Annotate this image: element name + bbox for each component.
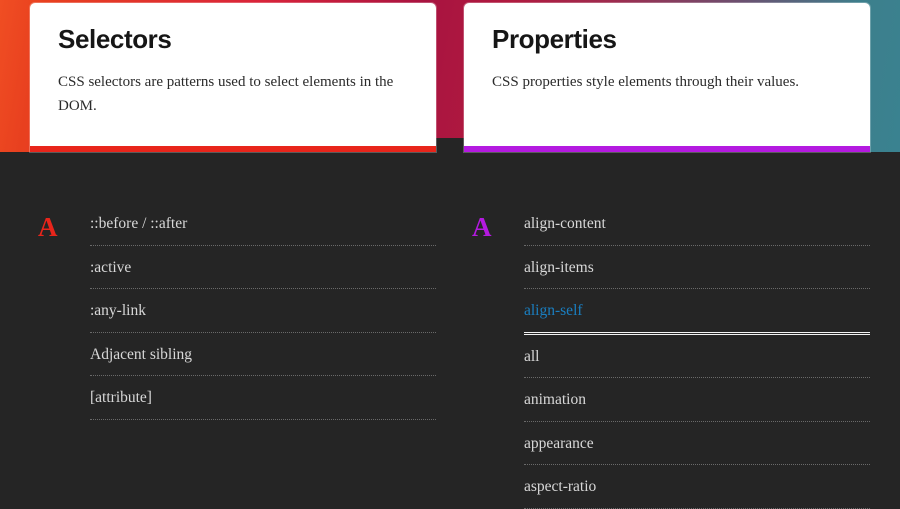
- list-item[interactable]: align-content: [524, 214, 870, 246]
- letter-heading: A: [30, 214, 90, 462]
- card-description: CSS properties style elements through th…: [492, 70, 832, 95]
- card-row: SelectorsCSS selectors are patterns used…: [0, 0, 900, 152]
- index-column-1: Aalign-contentalign-itemsalign-selfallan…: [464, 152, 870, 462]
- index-column-0: A::before / ::after:active:any-linkAdjac…: [30, 152, 436, 462]
- list-item[interactable]: :active: [90, 258, 436, 290]
- card-title: Selectors: [58, 25, 408, 54]
- list-item[interactable]: all: [524, 347, 870, 379]
- list-item[interactable]: aspect-ratio: [524, 477, 870, 509]
- term-list: ::before / ::after:active:any-linkAdjace…: [90, 214, 436, 462]
- card-selectors[interactable]: SelectorsCSS selectors are patterns used…: [30, 3, 436, 152]
- list-item[interactable]: [attribute]: [90, 388, 436, 420]
- list-item[interactable]: animation: [524, 390, 870, 422]
- card-description: CSS selectors are patterns used to selec…: [58, 70, 398, 120]
- letter-heading: A: [464, 214, 524, 462]
- term-list: align-contentalign-itemsalign-selfallani…: [524, 214, 870, 462]
- card-properties[interactable]: PropertiesCSS properties style elements …: [464, 3, 870, 152]
- list-item[interactable]: Adjacent sibling: [90, 345, 436, 377]
- list-item[interactable]: :any-link: [90, 301, 436, 333]
- list-item[interactable]: ::before / ::after: [90, 214, 436, 246]
- list-item[interactable]: appearance: [524, 434, 870, 466]
- index-column-row: A::before / ::after:active:any-linkAdjac…: [0, 152, 900, 462]
- card-title: Properties: [492, 25, 842, 54]
- list-item[interactable]: align-self: [524, 301, 870, 335]
- list-item[interactable]: align-items: [524, 258, 870, 290]
